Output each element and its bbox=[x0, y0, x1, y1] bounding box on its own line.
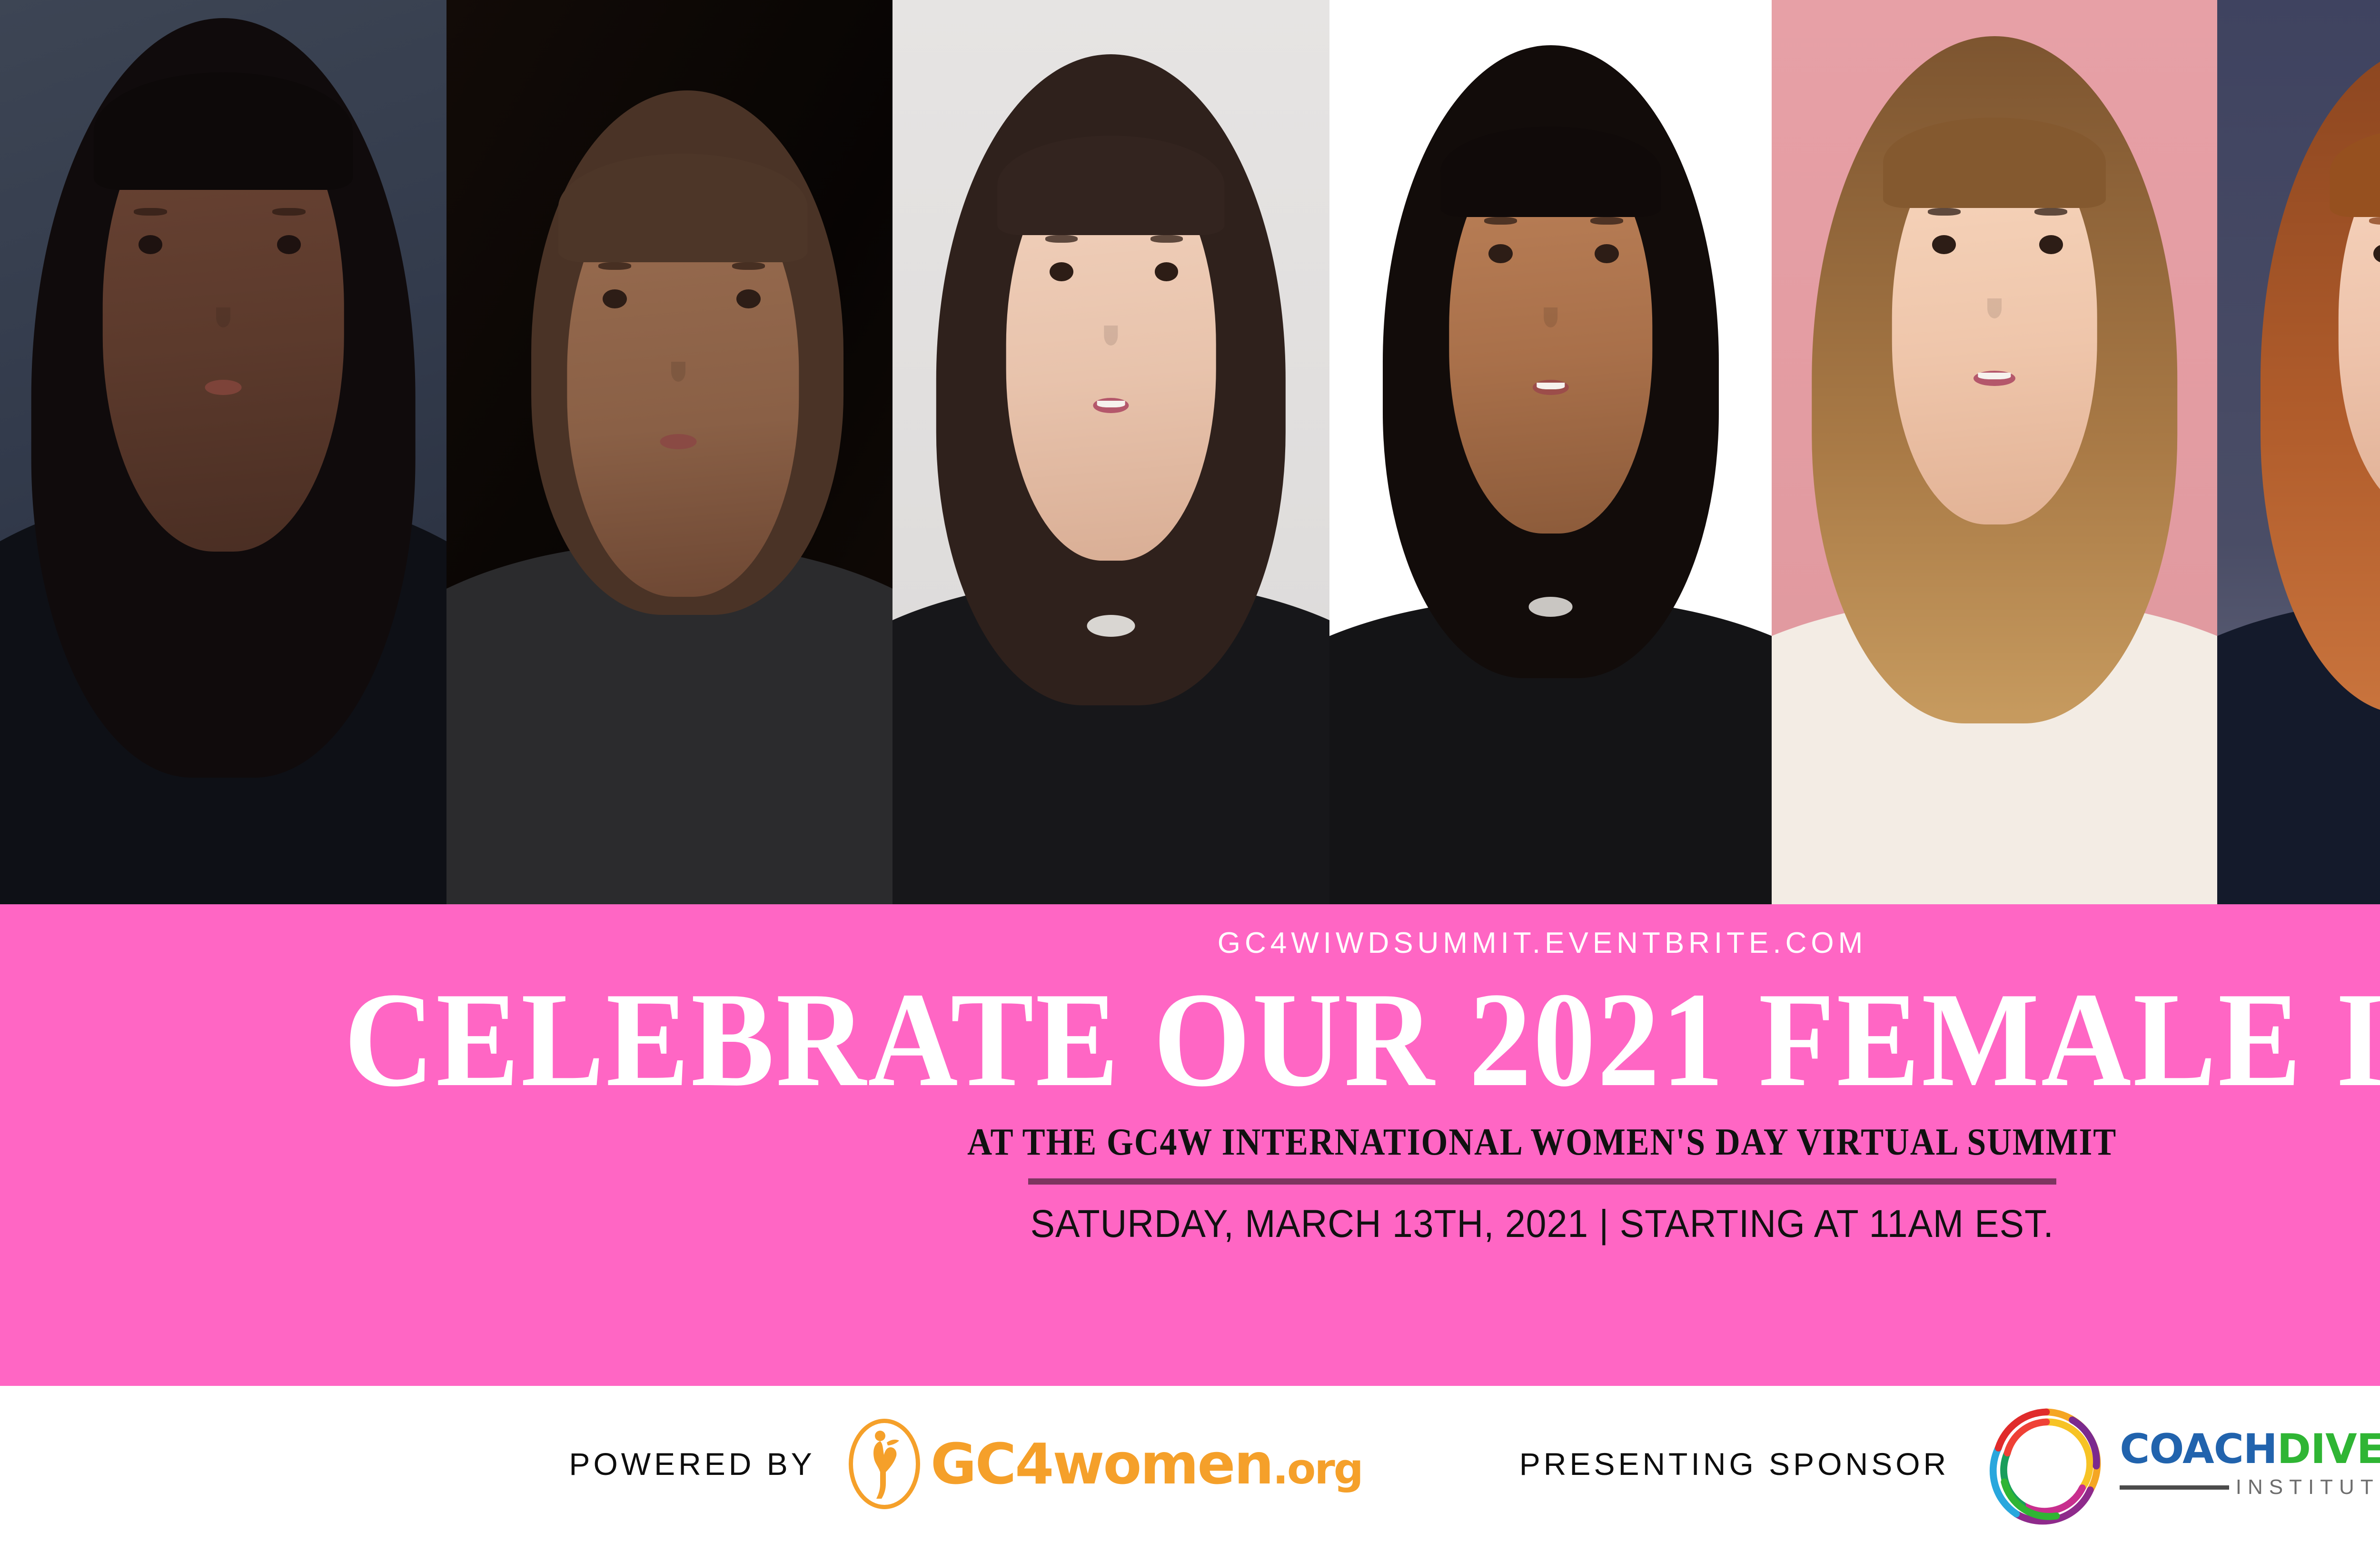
honoree-photo-4 bbox=[1329, 0, 1772, 904]
event-banner: GC4WIWDSUMMIT.EVENTBRITE.COM CELEBRATE O… bbox=[0, 0, 2380, 1542]
coachdiversity-logo[interactable]: COACHDIVERSITY INSTITUTE bbox=[1986, 1402, 2380, 1526]
coachdiversity-top-line: COACHDIVERSITY bbox=[2120, 1429, 2380, 1470]
hair-front bbox=[1440, 127, 1661, 217]
powered-by-group: POWERED BY GC4women.org bbox=[569, 1419, 1362, 1509]
coachdiversity-wordmark: COACHDIVERSITY INSTITUTE bbox=[2120, 1429, 2380, 1499]
hair-front bbox=[94, 72, 353, 190]
teeth bbox=[1097, 401, 1125, 407]
eye-left bbox=[1932, 235, 1956, 254]
honoree-photo-6 bbox=[2217, 0, 2380, 904]
woman-figure-glyph bbox=[866, 1428, 903, 1500]
brow-right bbox=[272, 208, 305, 216]
brow-right bbox=[732, 262, 765, 270]
powered-by-label: POWERED BY bbox=[569, 1446, 815, 1482]
event-datetime: SATURDAY, MARCH 13TH, 2021 | STARTING AT… bbox=[1031, 1202, 2054, 1246]
event-info-band: GC4WIWDSUMMIT.EVENTBRITE.COM CELEBRATE O… bbox=[0, 904, 2380, 1386]
presenting-sponsor-group: PRESENTING SPONSOR bbox=[1519, 1402, 2380, 1526]
brow-left bbox=[1928, 208, 1961, 216]
brow-right bbox=[1150, 235, 1183, 243]
gc4women-name: GC4women bbox=[931, 1431, 1273, 1497]
dash-left bbox=[2120, 1485, 2229, 1490]
eye-left bbox=[1488, 244, 1512, 263]
event-subtitle: AT THE GC4W INTERNATIONAL WOMEN'S DAY VI… bbox=[968, 1121, 2117, 1164]
eye-right bbox=[1595, 244, 1618, 263]
gc4women-logo[interactable]: GC4women.org bbox=[849, 1419, 1362, 1509]
gc4women-wordmark: GC4women.org bbox=[931, 1431, 1362, 1497]
brow-left bbox=[1045, 235, 1078, 243]
nose bbox=[216, 307, 230, 327]
honoree-photo-strip bbox=[0, 0, 2380, 904]
mouth bbox=[660, 434, 697, 449]
eye-left bbox=[139, 235, 163, 254]
divider bbox=[1028, 1178, 2056, 1185]
eye-right bbox=[736, 289, 761, 308]
teeth bbox=[1978, 373, 2011, 379]
brow-right bbox=[2034, 208, 2067, 216]
event-url[interactable]: GC4WIWDSUMMIT.EVENTBRITE.COM bbox=[1218, 926, 1867, 960]
woman-figure-oval-icon bbox=[849, 1419, 920, 1509]
teeth bbox=[1537, 383, 1565, 389]
honoree-photo-3 bbox=[892, 0, 1329, 904]
eye-right bbox=[1155, 262, 1179, 281]
gc4women-tld: .org bbox=[1272, 1444, 1362, 1493]
honoree-photo-5 bbox=[1772, 0, 2217, 904]
rainbow-swirl-icon bbox=[1986, 1402, 2106, 1526]
necklace bbox=[1528, 597, 1573, 617]
presenting-sponsor-label: PRESENTING SPONSOR bbox=[1519, 1446, 1949, 1482]
nose bbox=[1104, 326, 1118, 346]
eye-right bbox=[2039, 235, 2063, 254]
eye-left bbox=[603, 289, 627, 308]
hair-front bbox=[558, 154, 808, 262]
brow-left bbox=[1484, 217, 1517, 225]
eye-right bbox=[277, 235, 301, 254]
hair-front bbox=[997, 136, 1224, 235]
institute-word: INSTITUTE bbox=[2236, 1475, 2380, 1499]
mouth bbox=[205, 380, 242, 395]
hair-front bbox=[1883, 118, 2106, 208]
page-title: CELEBRATE OUR 2021 FEMALE ICONS bbox=[344, 977, 2380, 1102]
nose bbox=[671, 362, 685, 382]
diversity-word: DIVERSITY bbox=[2277, 1425, 2380, 1473]
sponsor-footer: POWERED BY GC4women.org PRESENTING SPONS… bbox=[0, 1386, 2380, 1542]
coach-word: COACH bbox=[2120, 1425, 2277, 1473]
necklace bbox=[1087, 615, 1135, 637]
coachdiversity-bottom-line: INSTITUTE bbox=[2120, 1475, 2380, 1499]
honoree-photo-2 bbox=[446, 0, 892, 904]
nose bbox=[1987, 298, 2002, 318]
brow-left bbox=[134, 208, 167, 216]
honoree-photo-1 bbox=[0, 0, 446, 904]
eye-left bbox=[1050, 262, 1073, 281]
brow-right bbox=[1590, 217, 1623, 225]
nose bbox=[1544, 307, 1558, 327]
brow-left bbox=[598, 262, 631, 270]
